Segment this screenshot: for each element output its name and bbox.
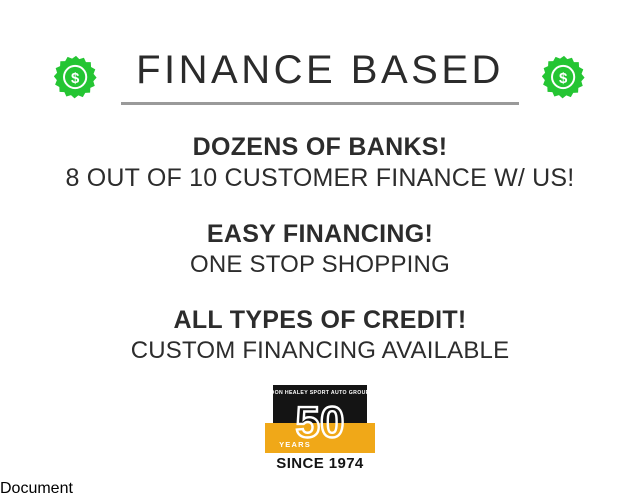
message-block-credit: ALL TYPES OF CREDIT! CUSTOM FINANCING AV… — [0, 305, 640, 366]
fifty-years-badge-icon: DON HEALEY SPORT AUTO GROUP 50 YEARS — [265, 385, 375, 453]
block-subline: CUSTOM FINANCING AVAILABLE — [0, 336, 640, 366]
logo-years-label: YEARS — [279, 440, 311, 449]
block-headline: ALL TYPES OF CREDIT! — [0, 305, 640, 336]
title-divider — [121, 102, 519, 105]
body-blocks: DOZENS OF BANKS! 8 OUT OF 10 CUSTOMER FI… — [0, 132, 640, 366]
block-subline: 8 OUT OF 10 CUSTOMER FINANCE W/ US! — [0, 163, 640, 194]
block-headline: DOZENS OF BANKS! — [0, 132, 640, 163]
finance-based-slide: $ FINANCE BASED $ DOZENS OF BANKS! 8 OUT… — [0, 0, 640, 480]
header: $ FINANCE BASED $ — [0, 44, 640, 110]
message-block-banks: DOZENS OF BANKS! 8 OUT OF 10 CUSTOMER FI… — [0, 132, 640, 194]
logo-since-text: SINCE 1974 — [265, 455, 375, 472]
svg-text:$: $ — [71, 70, 80, 87]
dealer-logo: DON HEALEY SPORT AUTO GROUP 50 YEARS SIN… — [265, 385, 375, 473]
block-subline: ONE STOP SHOPPING — [0, 250, 640, 280]
gear-dollar-icon: $ — [542, 55, 586, 99]
gear-dollar-icon: $ — [54, 55, 98, 99]
block-headline: EASY FINANCING! — [0, 219, 640, 250]
svg-text:$: $ — [559, 70, 568, 87]
title-wrap: FINANCE BASED — [120, 50, 520, 105]
page-title: FINANCE BASED — [136, 50, 504, 90]
message-block-easy-financing: EASY FINANCING! ONE STOP SHOPPING — [0, 219, 640, 280]
logo-brand-line: DON HEALEY SPORT AUTO GROUP — [271, 390, 370, 396]
